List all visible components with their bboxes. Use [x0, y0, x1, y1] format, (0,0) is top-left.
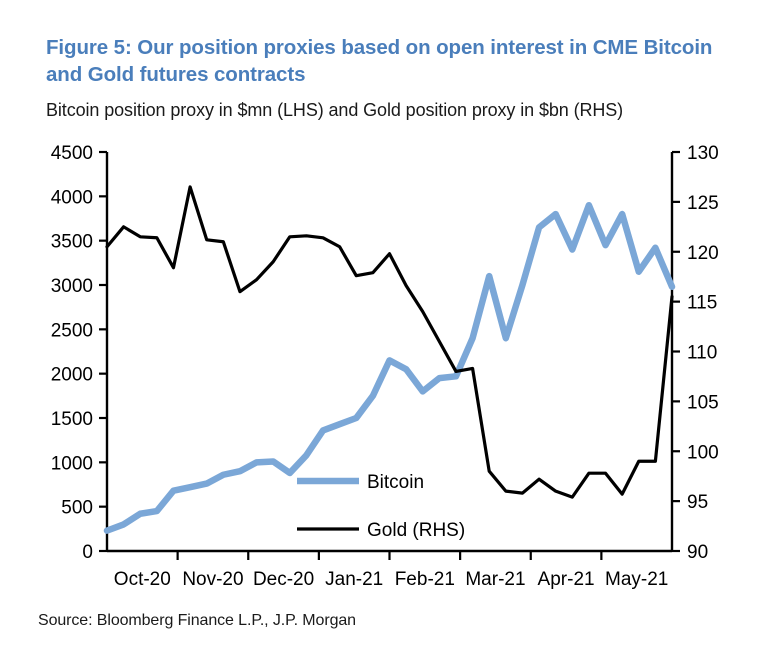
- x-axis-tick-label: Feb-21: [395, 569, 455, 590]
- figure-title: Figure 5: Our position proxies based on …: [46, 34, 736, 88]
- right-axis-tick-label: 95: [687, 492, 708, 513]
- left-axis-tick-label: 1000: [51, 453, 93, 474]
- x-axis-tick-label: Mar-21: [465, 569, 525, 590]
- x-axis-tick-label: May-21: [605, 569, 668, 590]
- figure-container: Figure 5: Our position proxies based on …: [0, 0, 766, 664]
- right-axis-tick-label: 125: [687, 193, 719, 214]
- chart-area: 0500100015002000250030003500400045009095…: [0, 136, 766, 596]
- left-axis-tick-label: 500: [61, 498, 93, 519]
- left-axis-tick-label: 1500: [51, 409, 93, 430]
- x-axis-tick-label: Jan-21: [325, 569, 383, 590]
- x-axis-tick-label: Apr-21: [538, 569, 595, 590]
- legend-label-gold-rhs: Gold (RHS): [367, 520, 465, 541]
- x-axis-tick-label: Dec-20: [253, 569, 314, 590]
- figure-source: Source: Bloomberg Finance L.P., J.P. Mor…: [38, 612, 356, 630]
- right-axis-tick-label: 130: [687, 143, 719, 164]
- right-axis-tick-label: 120: [687, 243, 719, 264]
- right-axis-tick-label: 90: [687, 542, 708, 563]
- right-axis-tick-label: 115: [687, 293, 717, 314]
- left-axis-tick-label: 4000: [51, 187, 93, 208]
- x-axis-tick-label: Oct-20: [114, 569, 171, 590]
- left-axis-tick-label: 2000: [51, 365, 93, 386]
- right-axis-tick-label: 100: [687, 442, 719, 463]
- right-axis-tick-label: 105: [687, 392, 719, 413]
- left-axis-tick-label: 4500: [51, 143, 93, 164]
- left-axis-tick-label: 0: [82, 542, 93, 563]
- series-line-gold-rhs: [107, 187, 672, 497]
- figure-subtitle: Bitcoin position proxy in $mn (LHS) and …: [46, 98, 746, 122]
- x-axis-tick-label: Nov-20: [182, 569, 243, 590]
- left-axis-tick-label: 3500: [51, 232, 93, 253]
- line-chart: 0500100015002000250030003500400045009095…: [0, 136, 766, 596]
- left-axis-tick-label: 2500: [51, 320, 93, 341]
- left-axis-tick-label: 3000: [51, 276, 93, 297]
- right-axis-tick-label: 110: [687, 343, 717, 364]
- legend-label-bitcoin: Bitcoin: [367, 472, 424, 493]
